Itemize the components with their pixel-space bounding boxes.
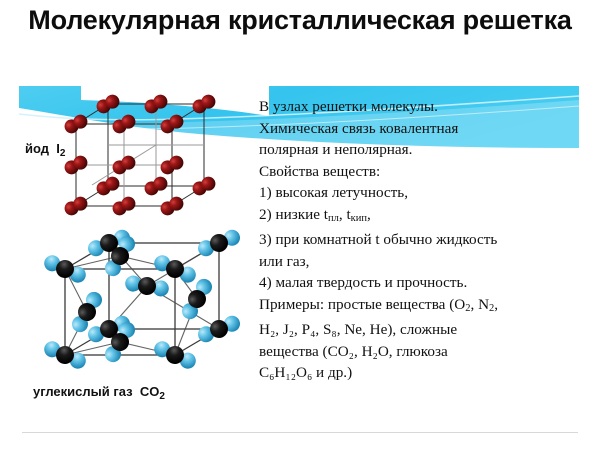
property-item-2: 2) низкие tпл, tкип, (259, 204, 579, 230)
property-2-sub-boil: кип (351, 213, 367, 224)
carbon-dioxide-crystal-lattice-figure (37, 229, 252, 379)
iodine-label: йод I2 (25, 141, 65, 159)
property-3-text: при комнатной t обычно жидкость (275, 231, 497, 248)
co2-molecules (41, 229, 243, 372)
property-2-text-prefix: низкие t (275, 206, 328, 223)
iodine-molecules (62, 94, 218, 218)
description-text-column: В узлах решетки молекулы. Химическая свя… (259, 96, 579, 384)
iodine-substance-name: йод (25, 141, 49, 156)
co2-substance-name: углекислый газ (33, 384, 133, 399)
property-1-text: высокая летучность, (275, 184, 408, 201)
content-panel: йод I2 (19, 86, 579, 431)
iodine-formula: I2 (56, 141, 65, 156)
property-4-text: малая твердость и прочность. (275, 274, 467, 291)
figures-column: йод I2 (19, 86, 259, 431)
examples-line-3: вещества (CO₂, H₂O, глюкоза (259, 341, 579, 363)
text-line-nodes: В узлах решетки молекулы. (259, 96, 579, 118)
property-3-number: 3) (259, 231, 272, 248)
bottom-divider (22, 432, 578, 433)
property-2-sub-melt: пл (328, 213, 339, 224)
property-item-3-continuation: или газ, (259, 251, 579, 273)
examples-n2-prefix: , N (470, 296, 489, 313)
examples-line-2: H₂, J₂, P₄, S₈, Ne, He), сложные (259, 319, 579, 341)
property-2-text-suffix: , (367, 206, 371, 223)
property-item-4: 4) малая твердость и прочность. (259, 272, 579, 294)
text-line-bond: Химическая связь ковалентная (259, 118, 579, 140)
property-1-number: 1) (259, 184, 272, 201)
text-line-bond-cont: полярная и неполярная. (259, 139, 579, 161)
property-item-3: 3) при комнатной t обычно жидкость (259, 229, 579, 251)
text-line-properties-heading: Свойства веществ: (259, 161, 579, 183)
page-title: Молекулярная кристаллическая решетка (0, 2, 600, 38)
property-4-number: 4) (259, 274, 272, 291)
examples-line-4: C₆H₁₂O₆ и др.) (259, 362, 579, 384)
examples-line-1: Примеры: простые вещества (O2, N2, (259, 294, 579, 320)
property-item-1: 1) высокая летучность, (259, 182, 579, 204)
property-2-number: 2) (259, 206, 272, 223)
co2-label: углекислый газ CO2 (33, 384, 165, 402)
examples-line-1-tail: , (494, 296, 498, 313)
co2-formula: CO2 (140, 384, 165, 399)
iodine-crystal-lattice-figure (52, 94, 242, 219)
examples-label: Примеры: (259, 296, 324, 313)
examples-simple-prefix: простые вещества (O (328, 296, 465, 313)
property-2-text-mid: , t (339, 206, 351, 223)
